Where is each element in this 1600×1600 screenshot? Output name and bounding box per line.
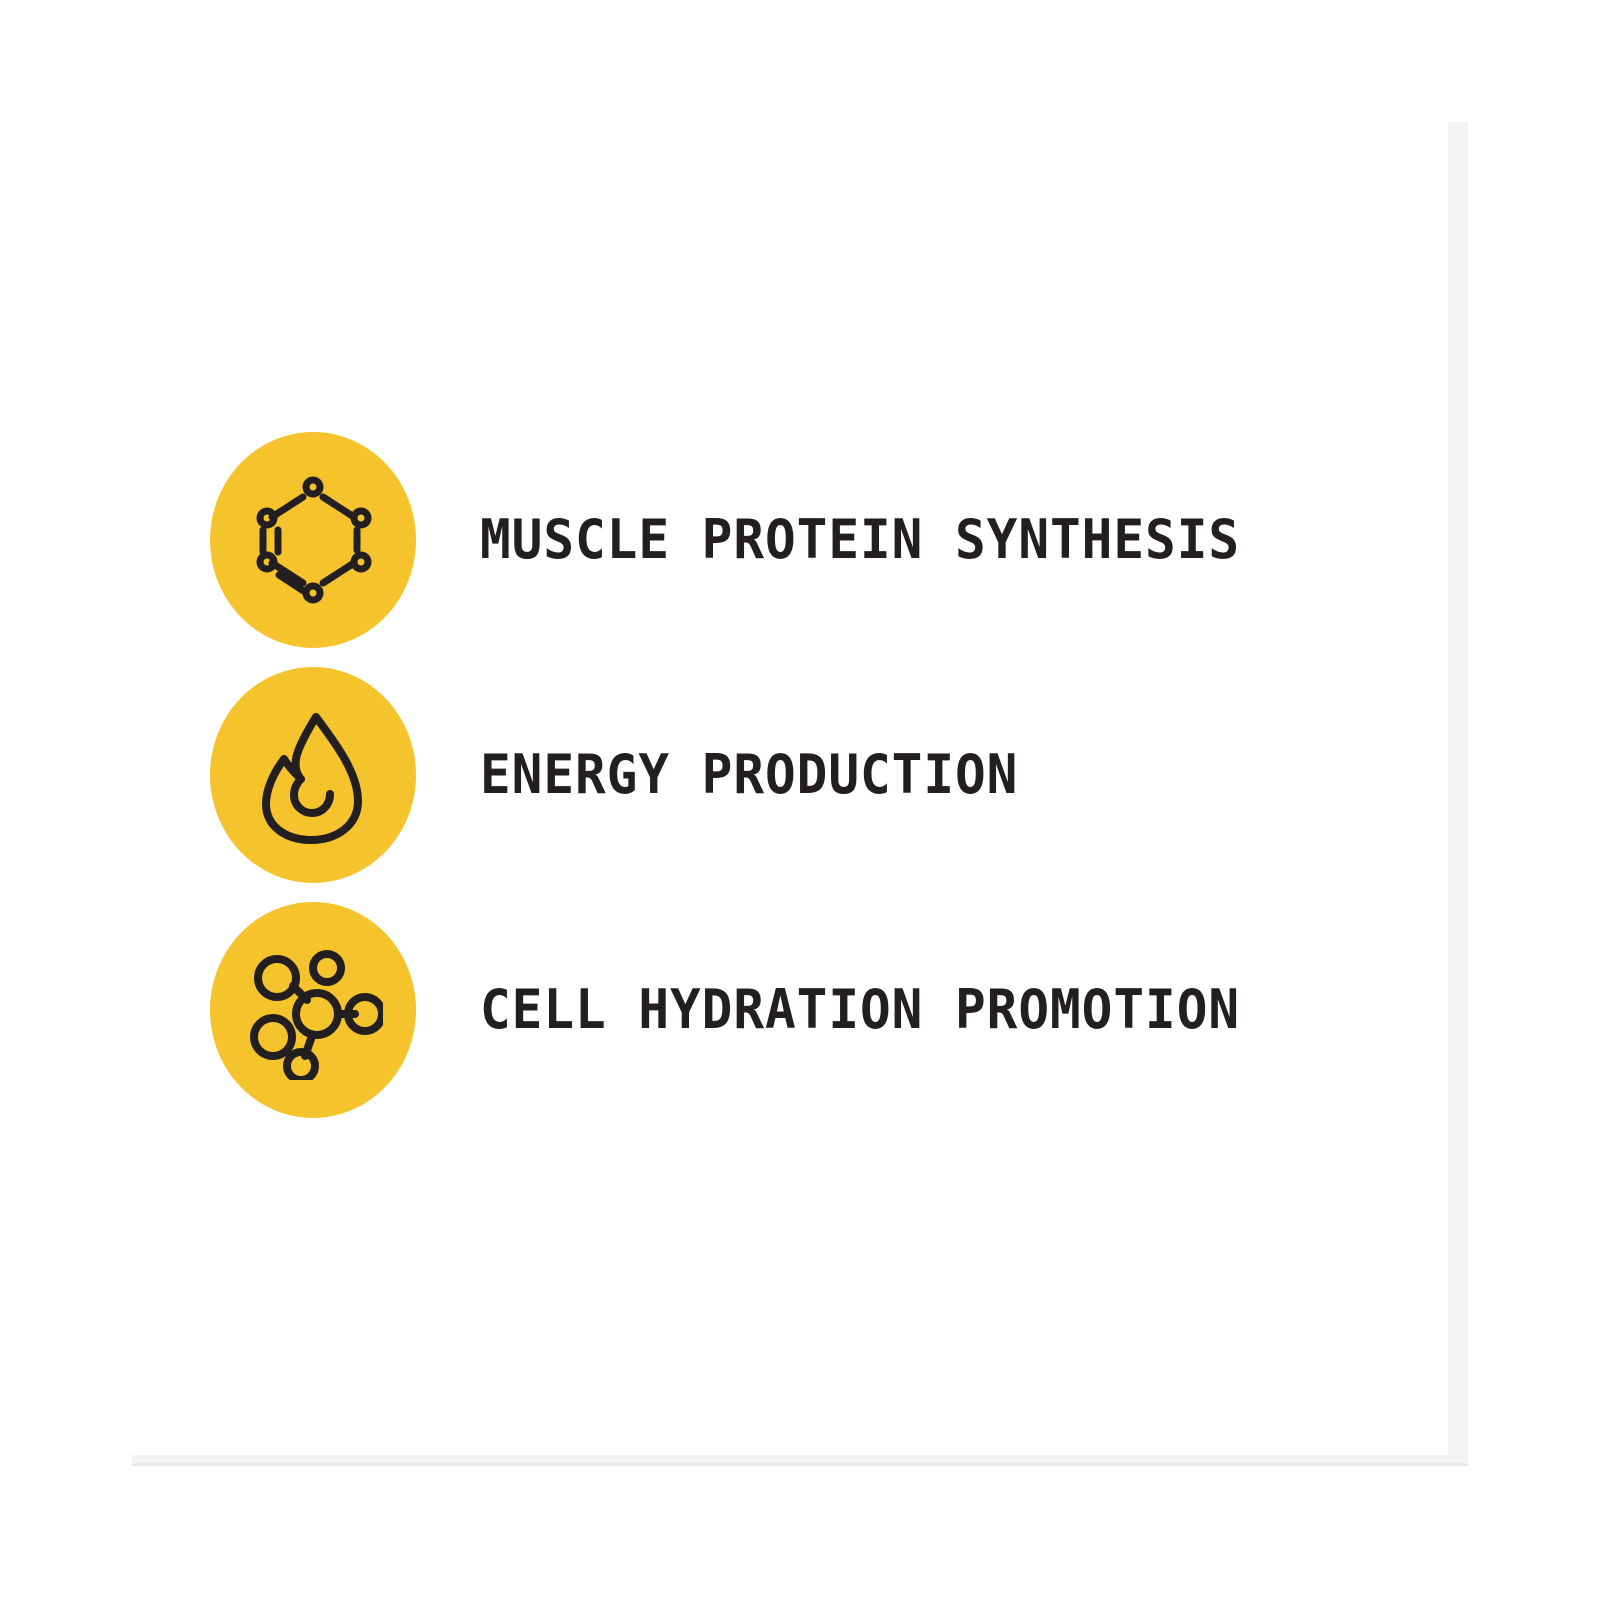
benefit-label-energy-production: ENERGY PRODUCTION [480, 748, 1321, 802]
benefit-item-cell-hydration-promotion: CELL HYDRATION PROMOTION [210, 902, 1370, 1118]
panel-edge-right [1448, 122, 1468, 1462]
benefit-label-muscle-protein-synthesis: MUSCLE PROTEIN SYNTHESIS [480, 513, 1321, 567]
benefits-graphic: MUSCLE PROTEIN SYNTHESIS ENERGY PRODUCTI… [0, 0, 1600, 1600]
benefit-label-cell-hydration-promotion: CELL HYDRATION PROMOTION [480, 983, 1321, 1037]
panel-edge-bottom-shadow [132, 1463, 1468, 1466]
hexagon-molecule-icon [210, 432, 416, 648]
molecule-cluster-icon [210, 902, 416, 1118]
benefit-list: MUSCLE PROTEIN SYNTHESIS ENERGY PRODUCTI… [210, 432, 1370, 1118]
flame-icon [210, 667, 416, 883]
benefit-item-energy-production: ENERGY PRODUCTION [210, 667, 1370, 883]
benefit-item-muscle-protein-synthesis: MUSCLE PROTEIN SYNTHESIS [210, 432, 1370, 648]
panel-edge-bottom [132, 1455, 1468, 1463]
